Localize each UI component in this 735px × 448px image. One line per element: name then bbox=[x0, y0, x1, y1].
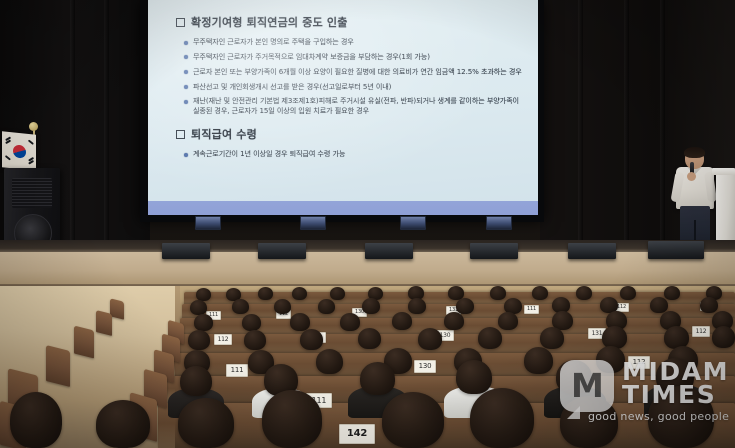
audience-head bbox=[318, 299, 335, 314]
slide-bullet: 근로자 본인 또는 부양가족이 6개월 이상 요양이 필요한 질병에 대한 의료… bbox=[184, 67, 522, 76]
stage-monitor bbox=[162, 243, 210, 259]
audience-head bbox=[408, 298, 426, 314]
presenter bbox=[672, 148, 718, 252]
slide-bullet: 파산선고 및 개인회생개시 선고를 받은 경우(선고일로부터 5년 이내) bbox=[184, 82, 522, 91]
audience-head-front bbox=[10, 392, 62, 448]
audience-head bbox=[712, 326, 735, 348]
audience-head bbox=[258, 287, 273, 300]
audience-head bbox=[316, 349, 343, 374]
flagpole-finial bbox=[29, 122, 38, 131]
audience-head-front bbox=[560, 396, 618, 448]
stage-light bbox=[400, 216, 426, 230]
audience-head-front bbox=[178, 398, 234, 448]
audience-head bbox=[194, 314, 213, 331]
curtain-fold bbox=[660, 0, 665, 268]
slide-bullet: 무주택자인 근로자가 주거목적으로 임대차계약 보증금을 부담하는 경우(1회 … bbox=[184, 52, 522, 61]
audience-head bbox=[664, 286, 680, 300]
slide-bullet-list-2: 계속근로기간이 1년 이상일 경우 퇴직급여 수령 가능 bbox=[176, 149, 522, 158]
audience-head bbox=[556, 360, 592, 394]
audience-head bbox=[330, 287, 345, 300]
audience-head bbox=[650, 297, 668, 313]
podium-top bbox=[712, 168, 735, 175]
stage-light bbox=[300, 216, 326, 230]
curtain-fold bbox=[70, 0, 75, 268]
audience-head-front bbox=[648, 386, 714, 448]
audience-head bbox=[392, 312, 412, 330]
seat-number-plate: 112 bbox=[628, 356, 650, 369]
seat-number-plate: 111 bbox=[226, 364, 248, 377]
slide-section-heading-2: 퇴직급여 수령 bbox=[176, 126, 522, 142]
slide-bullet: 무주택자인 근로자가 본인 명의로 주택을 구입하는 경우 bbox=[184, 37, 522, 46]
trigram bbox=[28, 139, 34, 144]
audience-head bbox=[300, 329, 323, 350]
aisle-seat bbox=[46, 345, 70, 387]
section-title: 확정기여형 퇴직연금의 중도 인출 bbox=[191, 14, 348, 30]
audience-head-front bbox=[470, 388, 534, 448]
audience-head bbox=[540, 327, 564, 349]
slide-bullet-list-1: 무주택자인 근로자가 본인 명의로 주택을 구입하는 경우 무주택자인 근로자가… bbox=[176, 37, 522, 115]
aisle-seat bbox=[110, 298, 124, 319]
audience-head bbox=[232, 299, 249, 314]
stage-light bbox=[195, 216, 221, 230]
bullet-dot-icon bbox=[184, 55, 188, 59]
aisle-seat bbox=[96, 310, 112, 336]
audience-head bbox=[524, 347, 553, 374]
curtain-fold bbox=[624, 0, 629, 268]
audience-head bbox=[490, 286, 506, 300]
bullet-dot-icon bbox=[184, 85, 188, 89]
seat-number-plate-front: 142 bbox=[339, 424, 375, 444]
section-title: 퇴직급여 수령 bbox=[191, 126, 257, 142]
audience-head-front bbox=[382, 392, 444, 448]
bullet-dot-icon bbox=[184, 153, 188, 157]
audience-head bbox=[576, 286, 592, 300]
slide-bullet: 계속근로기간이 1년 이상일 경우 퇴직급여 수령 가능 bbox=[184, 149, 522, 158]
aisle-seat bbox=[74, 326, 94, 359]
stage-monitor bbox=[470, 243, 518, 259]
bullet-text: 근로자 본인 또는 부양가족이 6개월 이상 요양이 필요한 질병에 대한 의료… bbox=[193, 67, 522, 76]
audience-head bbox=[478, 327, 502, 349]
projection-screen: 확정기여형 퇴직연금의 중도 인출 무주택자인 근로자가 본인 명의로 주택을 … bbox=[148, 0, 538, 215]
audience-head bbox=[290, 313, 310, 331]
audience-head bbox=[456, 298, 474, 314]
audience-head bbox=[700, 297, 718, 313]
audience-head bbox=[244, 330, 266, 350]
bullet-text: 재난(재난 및 안전관리 기본법 제3조제1호)피해로 주거시설 유실(전파, … bbox=[193, 96, 522, 115]
audience-head bbox=[362, 298, 380, 314]
audience-head bbox=[360, 362, 395, 395]
audience-head-front bbox=[262, 390, 322, 448]
audience-head bbox=[620, 286, 636, 300]
bullet-dot-icon bbox=[184, 70, 188, 74]
bullet-dot-icon bbox=[184, 100, 188, 104]
curtain-fold bbox=[104, 0, 109, 268]
curtain-fold bbox=[578, 0, 583, 268]
bullet-text: 무주택자인 근로자가 본인 명의로 주택을 구입하는 경우 bbox=[193, 37, 354, 46]
podium bbox=[716, 172, 735, 250]
slide-section-heading-1: 확정기여형 퇴직연금의 중도 인출 bbox=[176, 14, 522, 30]
audience-head bbox=[180, 366, 212, 396]
stage-monitor bbox=[258, 243, 306, 259]
audience-head bbox=[274, 299, 291, 314]
presentation-slide: 확정기여형 퇴직연금의 중도 인출 무주택자인 근로자가 본인 명의로 주택을 … bbox=[148, 0, 538, 201]
audience-head bbox=[190, 300, 207, 315]
audience-head bbox=[188, 330, 210, 350]
taegeuk-icon bbox=[13, 144, 26, 158]
audience-head bbox=[292, 287, 307, 300]
auditorium-lecture-photo: 확정기여형 퇴직연금의 중도 인출 무주택자인 근로자가 본인 명의로 주택을 … bbox=[0, 0, 735, 448]
slide-footer-band bbox=[148, 201, 538, 215]
stage-light bbox=[486, 216, 512, 230]
audience-head bbox=[596, 346, 625, 373]
stage-monitor bbox=[365, 243, 413, 259]
seat-number-plate: 130 bbox=[414, 360, 436, 373]
bullet-text: 파산선고 및 개인회생개시 선고를 받은 경우(선고일로부터 5년 이내) bbox=[193, 82, 391, 91]
trigram bbox=[5, 155, 11, 160]
korean-flag-icon bbox=[2, 131, 36, 171]
seat-number-plate: 111 bbox=[524, 305, 539, 314]
seat-number-plate: 112 bbox=[214, 334, 232, 345]
seat-number-plate: 112 bbox=[692, 326, 710, 337]
checkbox-outline-icon bbox=[176, 130, 185, 139]
audience-head bbox=[340, 313, 360, 331]
audience-head bbox=[498, 312, 518, 330]
audience-head bbox=[358, 328, 381, 349]
stage-monitor bbox=[648, 241, 704, 259]
audience-head bbox=[242, 314, 261, 331]
presenter-hair bbox=[684, 147, 705, 158]
checkbox-outline-icon bbox=[176, 18, 185, 27]
bullet-dot-icon bbox=[184, 41, 188, 45]
stage-monitor bbox=[568, 243, 616, 259]
bullet-text: 계속근로기간이 1년 이상일 경우 퇴직급여 수령 가능 bbox=[193, 149, 345, 158]
audience-head bbox=[418, 328, 442, 350]
audience-head bbox=[444, 312, 464, 330]
bullet-text: 무주택자인 근로자가 주거목적으로 임대차계약 보증금을 부담하는 경우(1회 … bbox=[193, 52, 430, 61]
audience-head bbox=[532, 286, 548, 300]
presenter-hand bbox=[687, 172, 696, 181]
speaker-grille bbox=[12, 178, 52, 208]
audience-head bbox=[456, 360, 492, 394]
slide-bullet: 재난(재난 및 안전관리 기본법 제3조제1호)피해로 주거시설 유실(전파, … bbox=[184, 96, 522, 115]
audience-head-front bbox=[96, 400, 150, 448]
